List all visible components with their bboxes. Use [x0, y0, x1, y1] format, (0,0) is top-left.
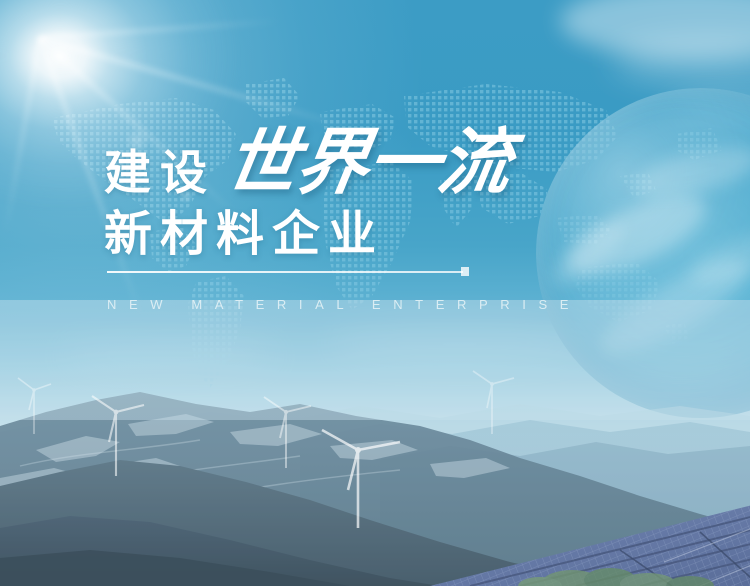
- headline-emphasis: 世界一流: [221, 128, 516, 197]
- headline-line-1: 建设 世界一流: [104, 128, 510, 197]
- headline-prefix: 建设: [104, 150, 216, 197]
- headline-divider: [107, 271, 463, 273]
- headline-subtitle: NEW MATERIAL ENTERPRISE: [107, 297, 581, 312]
- headline-block: 建设 世界一流 新材料企业 NEW MATERIAL ENTERPRISE: [0, 0, 750, 586]
- hero-banner: 建设 世界一流 新材料企业 NEW MATERIAL ENTERPRISE: [0, 0, 750, 586]
- headline-line-2: 新材料企业: [104, 210, 384, 258]
- divider-end-cap: [461, 267, 469, 276]
